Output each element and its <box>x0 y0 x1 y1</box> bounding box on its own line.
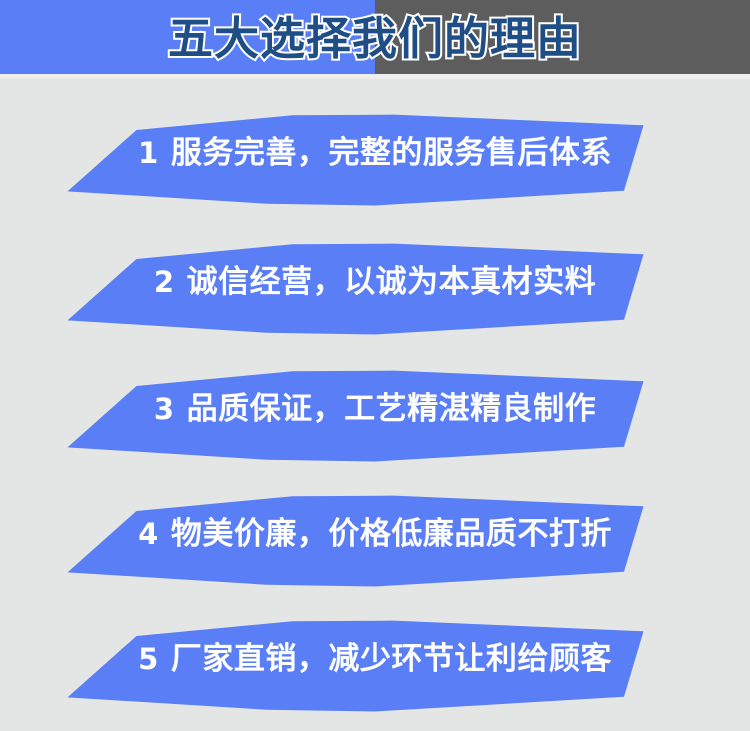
reason-number-3: 3 <box>154 395 175 424</box>
reason-number-2: 2 <box>154 268 175 297</box>
page-header: 五大选择我们的理由 <box>0 0 750 74</box>
reason-item-2[interactable]: 2 诚信经营，以诚为本真材实料 <box>0 223 750 341</box>
reason-label-4: 物美价廉，价格低廉品质不打折 <box>171 519 612 550</box>
page-title: 五大选择我们的理由 <box>0 0 750 74</box>
reason-text-1: 1 服务完善，完整的服务售后体系 <box>0 94 750 212</box>
reason-number-1: 1 <box>138 139 159 168</box>
reason-text-3: 3 品质保证，工艺精湛精良制作 <box>0 350 750 468</box>
reason-number-5: 5 <box>138 645 159 674</box>
reason-label-1: 服务完善，完整的服务售后体系 <box>171 138 612 169</box>
reason-item-3[interactable]: 3 品质保证，工艺精湛精良制作 <box>0 350 750 468</box>
reason-label-5: 厂家直销，减少环节让利给顾客 <box>171 644 612 675</box>
reason-text-2: 2 诚信经营，以诚为本真材实料 <box>0 223 750 341</box>
reason-number-4: 4 <box>138 520 159 549</box>
reason-item-1[interactable]: 1 服务完善，完整的服务售后体系 <box>0 94 750 212</box>
reason-text-5: 5 厂家直销，减少环节让利给顾客 <box>0 600 750 718</box>
promo-page: 五大选择我们的理由 1 服务完善，完整的服务售后体系 2 诚信经营，以诚为本真材… <box>0 0 750 731</box>
reason-item-5[interactable]: 5 厂家直销，减少环节让利给顾客 <box>0 600 750 718</box>
reason-list: 1 服务完善，完整的服务售后体系 2 诚信经营，以诚为本真材实料 3 品质保证，… <box>0 79 750 731</box>
reason-text-4: 4 物美价廉，价格低廉品质不打折 <box>0 475 750 593</box>
reason-label-3: 品质保证，工艺精湛精良制作 <box>187 394 597 425</box>
reason-item-4[interactable]: 4 物美价廉，价格低廉品质不打折 <box>0 475 750 593</box>
reason-label-2: 诚信经营，以诚为本真材实料 <box>187 267 597 298</box>
